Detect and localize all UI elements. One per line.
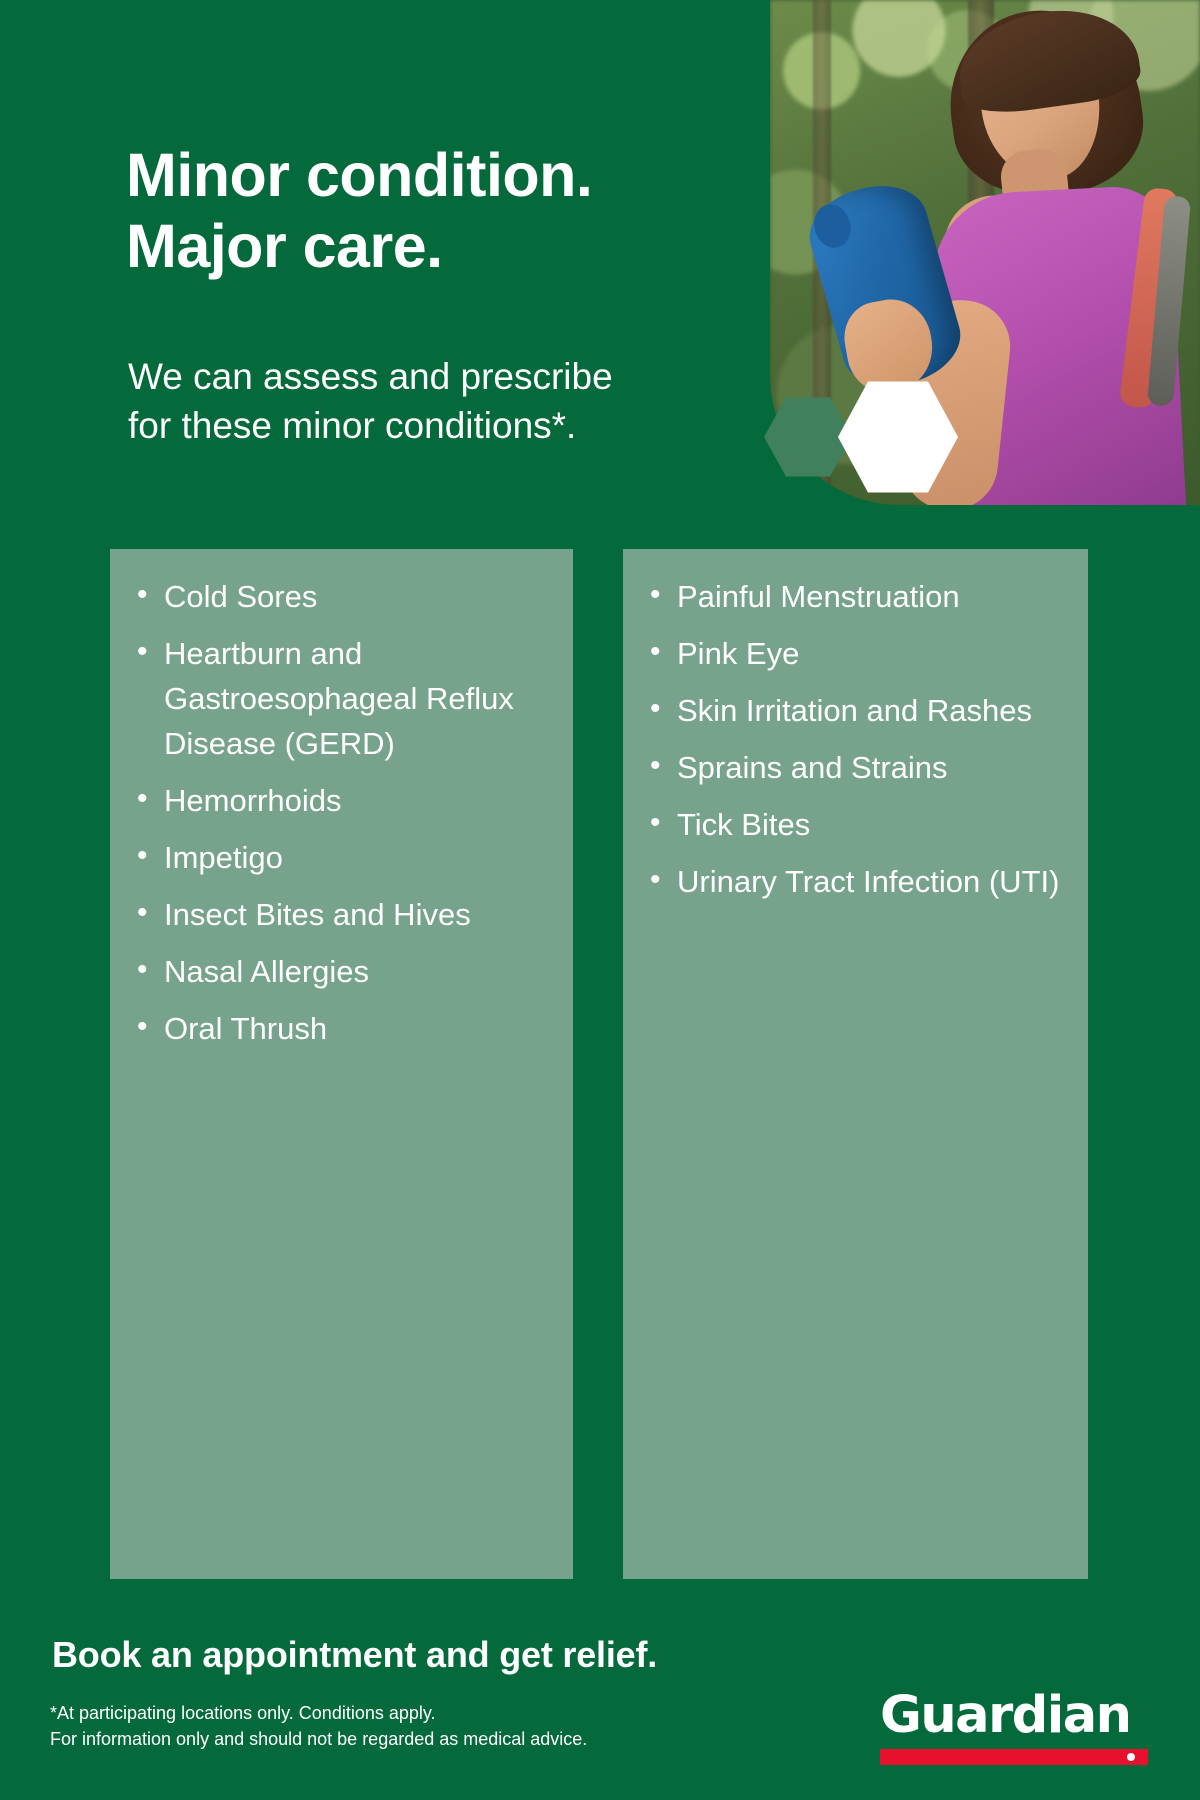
poster-canvas: Minor condition. Major care. We can asse… — [0, 0, 1200, 1800]
conditions-panel-right: Painful Menstruation Pink Eye Skin Irrit… — [623, 549, 1088, 1579]
headline-line-2: Major care. — [126, 212, 443, 280]
list-item: Insect Bites and Hives — [132, 893, 555, 938]
list-item: Impetigo — [132, 836, 555, 881]
footnote: *At participating locations only. Condit… — [50, 1700, 587, 1753]
list-item: Skin Irritation and Rashes — [645, 689, 1070, 734]
list-item: Oral Thrush — [132, 1007, 555, 1052]
headline-line-1: Minor condition. — [126, 141, 592, 209]
list-item: Hemorrhoids — [132, 779, 555, 824]
footnote-line-1: *At participating locations only. Condit… — [50, 1703, 436, 1723]
guardian-logo-red-bar — [880, 1749, 1148, 1765]
guardian-logo: Guardian — [880, 1690, 1148, 1765]
list-item: Sprains and Strains — [645, 746, 1070, 791]
subtitle-line-2: for these minor conditions*. — [128, 405, 576, 446]
call-to-action-text: Book an appointment and get relief. — [52, 1634, 657, 1676]
page-title: Minor condition. Major care. — [126, 140, 592, 283]
footnote-line-2: For information only and should not be r… — [50, 1729, 587, 1749]
conditions-list-right: Painful Menstruation Pink Eye Skin Irrit… — [645, 575, 1070, 905]
list-item: Nasal Allergies — [132, 950, 555, 995]
list-item: Heartburn and Gastroesophageal Reflux Di… — [132, 632, 555, 767]
conditions-panel-left: Cold Sores Heartburn and Gastroesophagea… — [110, 549, 573, 1579]
conditions-list-left: Cold Sores Heartburn and Gastroesophagea… — [132, 575, 555, 1051]
list-item: Pink Eye — [645, 632, 1070, 677]
list-item: Cold Sores — [132, 575, 555, 620]
subtitle: We can assess and prescribe for these mi… — [128, 352, 613, 450]
list-item: Tick Bites — [645, 803, 1070, 848]
guardian-wordmark: Guardian — [880, 1690, 1148, 1741]
subtitle-line-1: We can assess and prescribe — [128, 356, 613, 397]
list-item: Painful Menstruation — [645, 575, 1070, 620]
list-item: Urinary Tract Infection (UTI) — [645, 860, 1070, 905]
